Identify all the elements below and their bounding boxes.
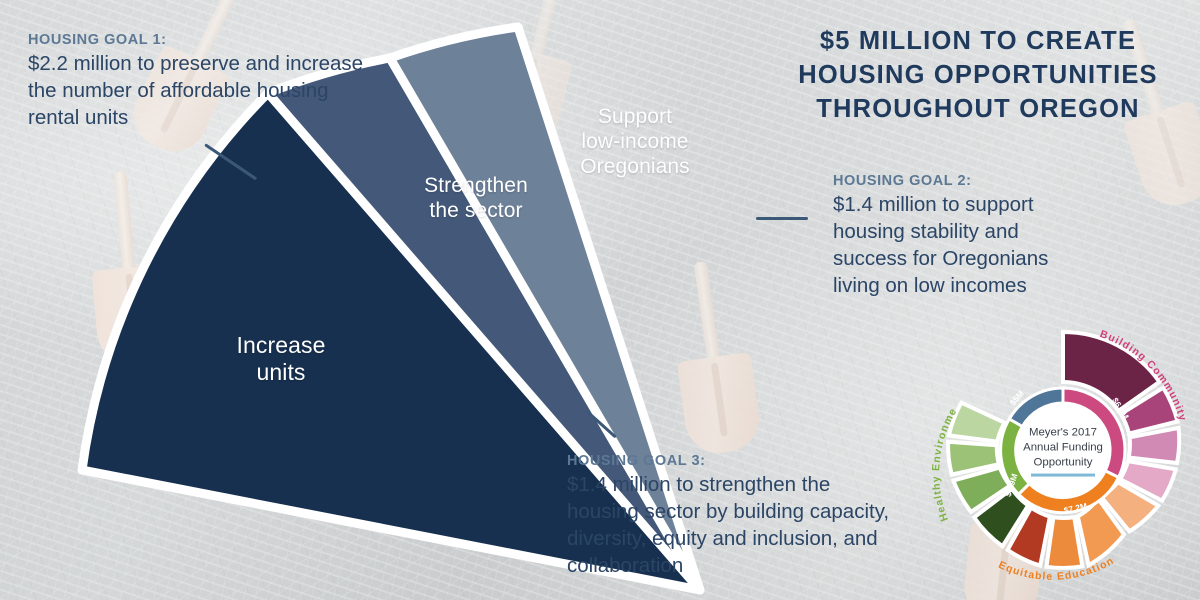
callout-goal-3: Housing Goal 3: $1.4 million to strength…	[567, 453, 897, 579]
page-title: $5 Million to Create Housing Opportuniti…	[772, 24, 1184, 126]
callout-kicker: Housing Goal 2:	[833, 173, 1098, 189]
callout-goal-1: Housing Goal 1: $2.2 million to preserve…	[28, 32, 378, 131]
callout-goal-2: Housing Goal 2: $1.4 million to support …	[833, 173, 1098, 299]
donut-center-disc	[1016, 403, 1110, 497]
page-title-line: Throughout Oregon	[772, 92, 1184, 126]
callout-kicker: Housing Goal 3:	[567, 453, 897, 469]
callout-kicker: Housing Goal 1:	[28, 32, 378, 48]
page-title-line: $5 Million to Create	[772, 24, 1184, 58]
leader-line-goal-2	[756, 217, 808, 220]
callout-body: $1.4 million to support housing stabilit…	[833, 191, 1098, 299]
callout-body: $2.2 million to preserve and increase th…	[28, 50, 378, 131]
donut-outer-healthy-environment-4[interactable]	[949, 403, 1005, 442]
page-title-line: Housing Opportunities	[772, 58, 1184, 92]
infographic-canvas: Increase units Strengthen the sector Sup…	[0, 0, 1200, 600]
callout-body: $1.4 million to strengthen the housing s…	[567, 471, 897, 579]
donut-outer-label-healthy-environment: Healthy Environment	[930, 312, 960, 523]
donut-outer-equitable-education-3[interactable]	[1046, 517, 1082, 568]
meyer-funding-donut-chart: $5M $6.7M $7.2M $3.9M Building Community…	[930, 312, 1196, 590]
